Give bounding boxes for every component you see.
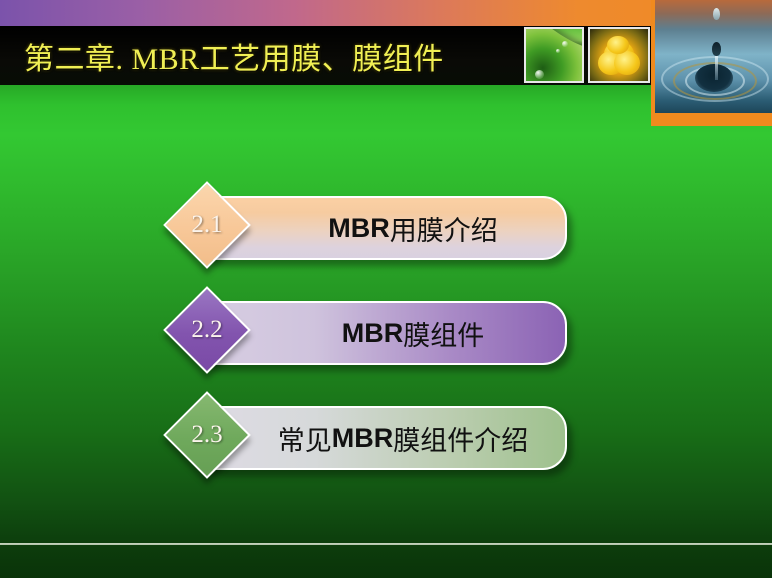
dew-drop bbox=[556, 49, 560, 53]
agenda-label-2: MBR膜组件 bbox=[207, 303, 565, 363]
droplet-stem bbox=[715, 54, 718, 80]
agenda-bar-1[interactable]: MBR用膜介绍 bbox=[205, 196, 567, 260]
agenda-label-3-bold: MBR bbox=[332, 423, 394, 454]
dew-drop bbox=[562, 41, 568, 47]
flower-thumbnail-image bbox=[588, 27, 650, 83]
page-title: 第二章. MBR工艺用膜、膜组件 bbox=[24, 34, 444, 78]
petal bbox=[614, 51, 640, 75]
agenda-bar-3[interactable]: 常见MBR膜组件介绍 bbox=[205, 406, 567, 470]
agenda-label-2-bold: MBR bbox=[342, 318, 404, 349]
droplet-falling bbox=[713, 8, 720, 20]
agenda-label-3-rest: 膜组件介绍 bbox=[393, 419, 528, 458]
leaf-thumbnail-image bbox=[524, 27, 584, 83]
water-crown bbox=[695, 64, 733, 92]
agenda-label-3-prefix: 常见 bbox=[278, 419, 332, 458]
agenda-label-1-rest: 用膜介绍 bbox=[390, 209, 498, 248]
footer-divider bbox=[0, 543, 772, 545]
dew-drop bbox=[535, 70, 544, 79]
agenda-label-1-bold: MBR bbox=[328, 213, 390, 244]
agenda-label-1: MBR用膜介绍 bbox=[207, 198, 565, 258]
agenda-bar-2[interactable]: MBR膜组件 bbox=[205, 301, 567, 365]
agenda-label-3: 常见MBR膜组件介绍 bbox=[207, 408, 565, 468]
agenda-label-2-rest: 膜组件 bbox=[403, 314, 484, 353]
droplet-rising bbox=[712, 42, 721, 56]
presentation-slide: 第二章. MBR工艺用膜、膜组件 MBR用膜介绍 2.1 bbox=[0, 0, 772, 578]
water-droplet-image bbox=[655, 0, 772, 113]
petal bbox=[607, 36, 629, 54]
